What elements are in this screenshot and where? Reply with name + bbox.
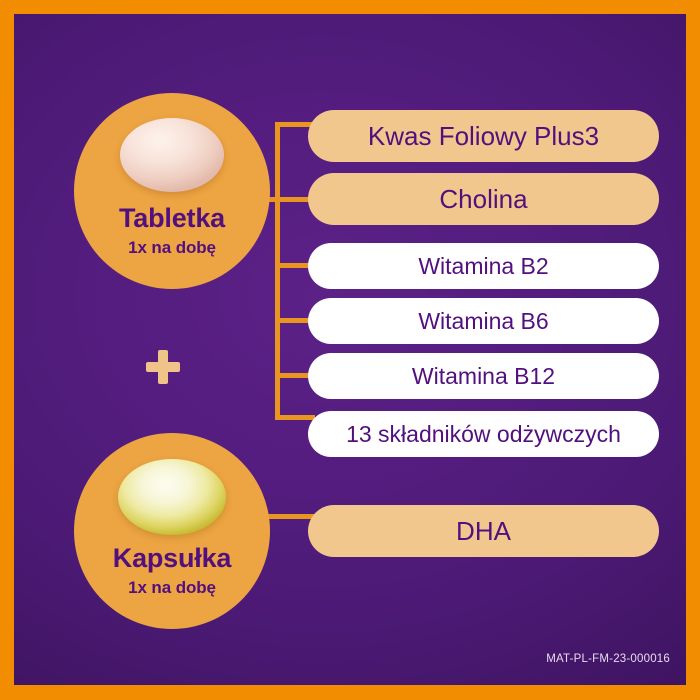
ingredient-pill-kwas-foliowy-plus[interactable]: Kwas Foliowy Plus3 (308, 110, 659, 162)
ingredient-label: Cholina (439, 184, 527, 215)
ingredient-label: Witamina B2 (418, 253, 548, 280)
poster-stage: Tabletka 1x na dobę Kapsułka 1x na dobę … (14, 14, 686, 685)
ingredient-label: DHA (456, 516, 511, 547)
product-circle-capsule[interactable]: Kapsułka 1x na dobę (74, 433, 270, 629)
ingredient-pill-cholina[interactable]: Cholina (308, 173, 659, 225)
ingredient-pill-witamina-b12[interactable]: Witamina B12 (308, 353, 659, 399)
ingredient-pill-witamina-b6[interactable]: Witamina B6 (308, 298, 659, 344)
tablet-frequency: 1x na dobę (128, 239, 216, 256)
tablet-name: Tabletka (119, 205, 225, 232)
product-circle-tablet[interactable]: Tabletka 1x na dobę (74, 93, 270, 289)
plus-icon (146, 350, 180, 384)
ingredient-label: Kwas Foliowy Plus (368, 121, 585, 152)
capsule-icon (118, 459, 226, 535)
ingredient-pill-13-składników-odżywczych[interactable]: 13 składników odżywczych (308, 411, 659, 457)
ingredient-label: 13 składników odżywczych (346, 421, 621, 448)
capsule-name: Kapsułka (113, 545, 231, 572)
connector-branch-skladniki (275, 415, 315, 420)
ingredient-pill-witamina-b2[interactable]: Witamina B2 (308, 243, 659, 289)
ingredient-label: Witamina B6 (418, 308, 548, 335)
poster-frame: Tabletka 1x na dobę Kapsułka 1x na dobę … (0, 0, 700, 700)
capsule-frequency: 1x na dobę (128, 579, 216, 596)
ingredient-label: Witamina B12 (412, 363, 555, 390)
tablet-icon (120, 118, 224, 192)
material-code: MAT-PL-FM-23-000016 (546, 653, 670, 665)
ingredient-pill-dha[interactable]: DHA (308, 505, 659, 557)
